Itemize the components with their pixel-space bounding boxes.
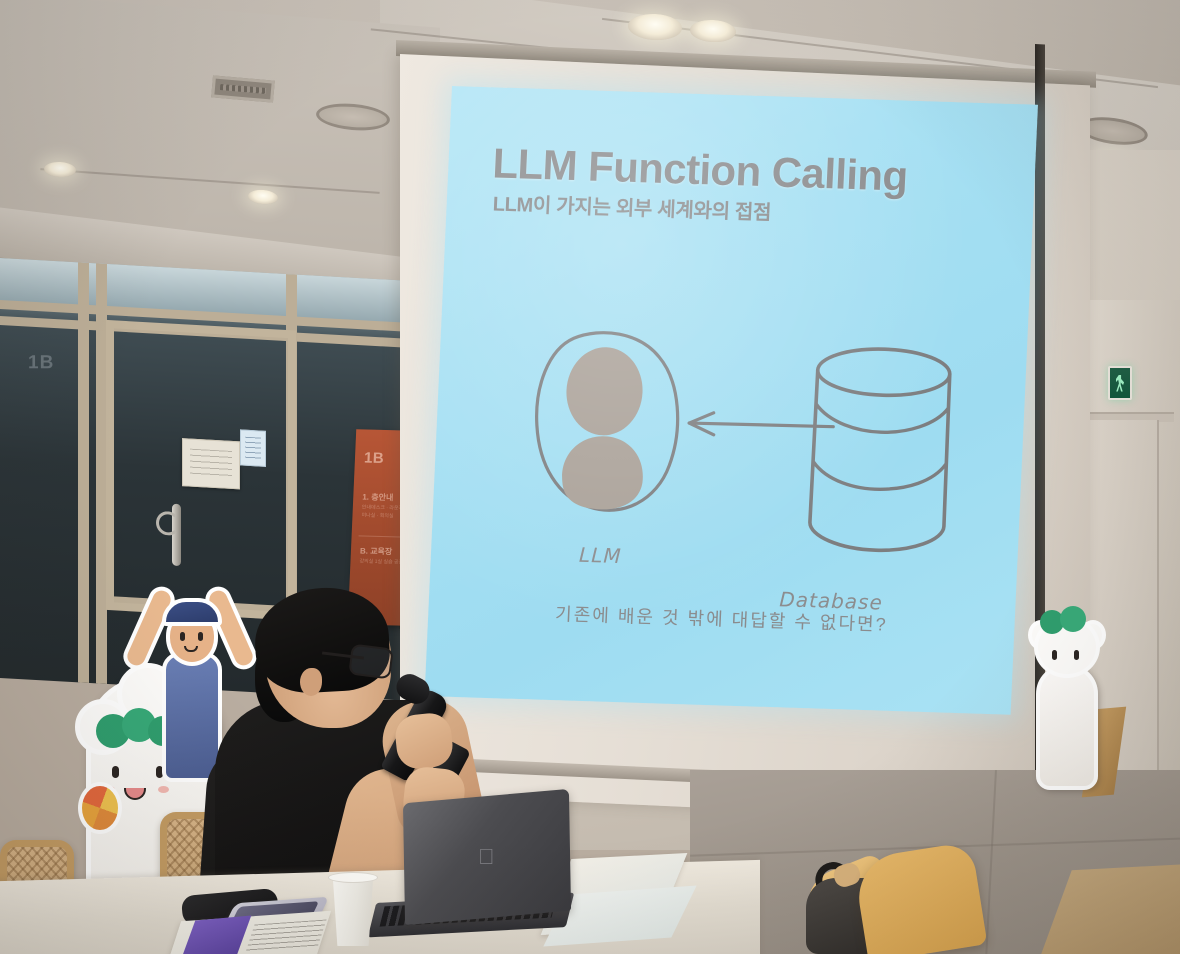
sign-row: B. 교육장 강의실 1실 실습 공간	[359, 545, 404, 567]
cloud-eye	[112, 766, 119, 778]
sign-divider	[359, 535, 401, 537]
person-head-icon	[565, 346, 645, 436]
paper-cup-rim	[328, 872, 378, 883]
running-person-glyph	[1116, 375, 1125, 392]
room-photo-scene: 관리실 1B 1B 1. 층안내 안내데스크 · 라운지 세미나실 · 회의실 …	[0, 0, 1180, 954]
exit-sign-icon	[1108, 366, 1132, 400]
apple-logo-icon: 	[478, 846, 498, 870]
llm-node-label: LLM	[579, 543, 623, 568]
presenter-ear	[300, 668, 322, 696]
wall-number-label: 1B	[28, 352, 54, 374]
standee-body	[162, 652, 222, 782]
slide-diagram: LLM Database	[429, 246, 1031, 625]
standee-body	[1036, 664, 1098, 790]
door-handle-icon[interactable]	[172, 504, 181, 567]
paper-text-lines	[245, 919, 326, 952]
standee-eye	[1052, 650, 1057, 660]
posted-notice	[182, 438, 240, 489]
balloon-icon	[78, 782, 122, 834]
notice-text-lines	[190, 449, 233, 479]
db-divider-icon	[812, 460, 945, 491]
standee-eye	[198, 632, 203, 641]
standee-eye	[1074, 650, 1079, 660]
db-divider-icon	[815, 404, 948, 434]
paper-cup	[330, 876, 376, 946]
person-body-icon	[561, 435, 645, 511]
slide-surface: LLM Function Calling LLM이 가지는 외부 세계와의 접점	[425, 86, 1038, 715]
arrow-line-icon	[689, 422, 833, 428]
diagram-svg	[429, 246, 1031, 625]
sign-row-sub: 강의실 1실 실습 공간	[359, 558, 403, 567]
standee-hair-leaf	[1060, 606, 1086, 632]
sign-logo: 1B	[364, 449, 385, 467]
db-body-icon	[809, 370, 951, 552]
standee-eye	[180, 632, 185, 641]
db-top-ellipse-icon	[817, 347, 951, 397]
projected-slide: LLM Function Calling LLM이 가지는 외부 세계와의 접점	[425, 86, 1038, 715]
posted-notice-blue	[240, 429, 266, 466]
sign-row-heading: B. 교육장	[360, 545, 404, 557]
glasses-lens-icon	[348, 644, 393, 680]
cloud-character-standee-right	[1030, 598, 1108, 798]
